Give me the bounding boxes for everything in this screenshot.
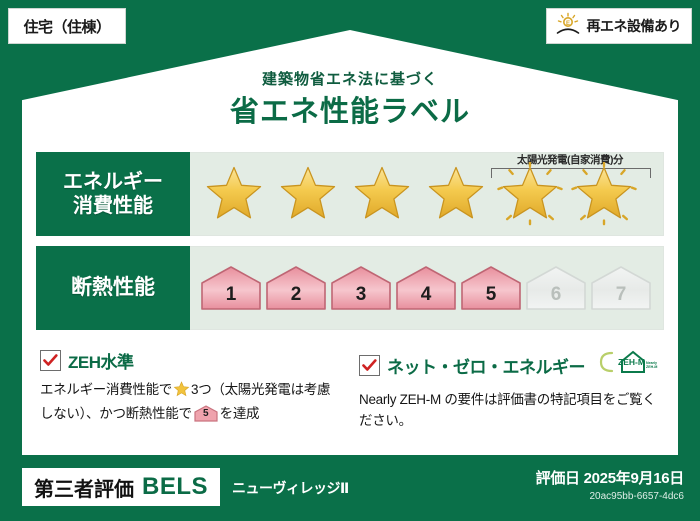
svg-text:E: E xyxy=(565,21,569,27)
star-filled xyxy=(420,159,492,229)
renewable-energy-badge: E 再エネ設備あり xyxy=(546,8,693,44)
criteria-section: ZEH水準 エネルギー消費性能で3つ（太陽光発電は考慮しない）、かつ断熱性能で5… xyxy=(40,348,660,432)
inline-star-icon xyxy=(173,385,190,400)
zeh-m-logo-icon: ZEH-M Nearly ZEH-M xyxy=(596,348,658,383)
label-title: 省エネ性能ラベル xyxy=(22,88,678,130)
net-zero-energy-description: Nearly ZEH-M の要件は評価書の特記項目をご覧ください。 xyxy=(359,390,660,432)
label-subtitle: 建築物省エネ法に基づく xyxy=(22,68,678,89)
check-icon xyxy=(359,355,380,376)
insulation-grade-active: 4 xyxy=(395,265,457,311)
project-name: ニューヴィレッジⅡ xyxy=(232,478,349,498)
svg-text:ZEH-M: ZEH-M xyxy=(618,357,645,367)
star-solar-portion xyxy=(568,159,640,229)
label-footer: 第三者評価 BELS ニューヴィレッジⅡ 評価日 2025年9月16日 20ac… xyxy=(0,455,700,521)
insulation-grade-group: 1234567 xyxy=(190,265,652,311)
bels-energy-label: 住宅（住棟） E 再エネ設備あり 建築物省エネ法に基づく 省エネ性能ラ xyxy=(0,0,700,521)
insulation-grade-active: 3 xyxy=(330,265,392,311)
energy-performance-label: エネルギー 消費性能 xyxy=(36,152,190,236)
renewable-energy-label: 再エネ設備あり xyxy=(587,16,682,36)
evaluation-id: 20ac95bb-6657-4dc6 xyxy=(536,491,684,502)
star-filled xyxy=(272,159,344,229)
building-type-label: 住宅（住棟） xyxy=(23,16,110,37)
zeh-standard-description: エネルギー消費性能で3つ（太陽光発電は考慮しない）、かつ断熱性能で5を達成 xyxy=(40,380,341,425)
zeh-standard-title: ZEH水準 xyxy=(68,348,134,373)
check-icon xyxy=(40,350,61,371)
inline-house-grade-icon: 5 xyxy=(194,405,218,422)
net-zero-energy-title: ネット・ゼロ・エネルギー xyxy=(387,353,585,378)
bels-certification-mark: 第三者評価 BELS xyxy=(22,468,220,506)
third-party-eval-label: 第三者評価 xyxy=(34,473,134,502)
insulation-performance-label: 断熱性能 xyxy=(36,246,190,330)
insulation-performance-row: 断熱性能 1234567 xyxy=(36,246,664,330)
label-body-panel: 建築物省エネ法に基づく 省エネ性能ラベル エネルギー 消費性能 太陽光発電(自家… xyxy=(22,30,678,455)
solar-sun-icon: E xyxy=(555,12,581,41)
svg-text:ZEH-M: ZEH-M xyxy=(646,365,657,369)
zeh-standard-block: ZEH水準 エネルギー消費性能で3つ（太陽光発電は考慮しない）、かつ断熱性能で5… xyxy=(40,348,341,432)
net-zero-energy-block: ネット・ゼロ・エネルギー ZEH-M Nearly ZEH-M Nearly Z… xyxy=(359,348,660,432)
star-filled xyxy=(198,159,270,229)
insulation-grade-area: 1234567 xyxy=(190,246,664,330)
star-solar-portion xyxy=(494,159,566,229)
ratings-section: エネルギー 消費性能 太陽光発電(自家消費)分 断熱性能 1 xyxy=(36,152,664,340)
insulation-grade-inactive: 6 xyxy=(525,265,587,311)
energy-performance-row: エネルギー 消費性能 太陽光発電(自家消費)分 xyxy=(36,152,664,236)
net-zero-energy-heading: ネット・ゼロ・エネルギー ZEH-M Nearly ZEH-M xyxy=(359,348,660,383)
insulation-grade-inactive: 7 xyxy=(590,265,652,311)
zeh-standard-heading: ZEH水準 xyxy=(40,348,341,373)
insulation-grade-active: 1 xyxy=(200,265,262,311)
bels-logo-text: BELS xyxy=(142,473,208,501)
star-rating-group xyxy=(190,153,640,235)
evaluation-date: 評価日 2025年9月16日 xyxy=(536,467,684,488)
insulation-grade-active: 5 xyxy=(460,265,522,311)
evaluation-info: 評価日 2025年9月16日 20ac95bb-6657-4dc6 xyxy=(536,467,684,502)
insulation-grade-active: 2 xyxy=(265,265,327,311)
building-type-tab: 住宅（住棟） xyxy=(8,8,126,44)
star-filled xyxy=(346,159,418,229)
energy-performance-stars-area: 太陽光発電(自家消費)分 xyxy=(190,152,664,236)
